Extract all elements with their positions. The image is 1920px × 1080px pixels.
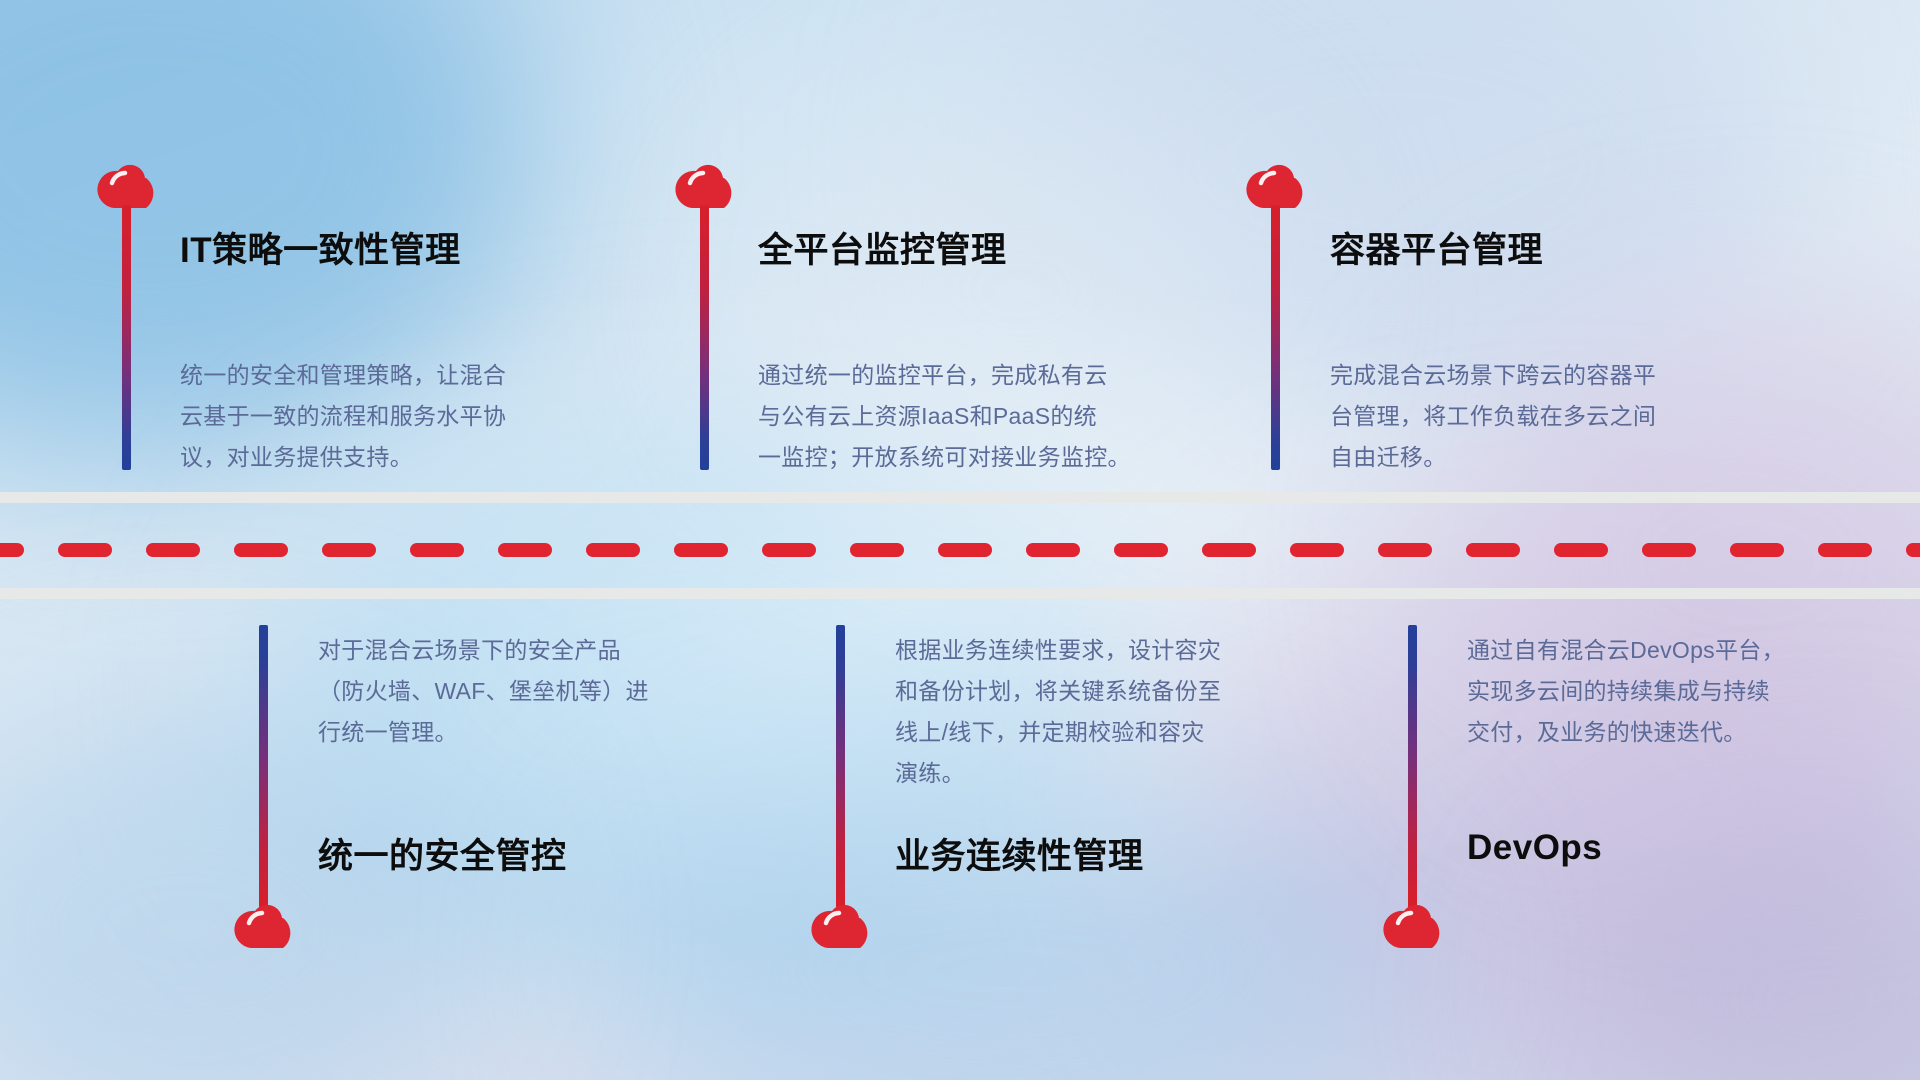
item-description: 对于混合云场景下的安全产品 （防火墙、WAF、堡垒机等）进 行统一管理。 xyxy=(318,630,748,753)
connector-stem xyxy=(700,205,709,470)
road-dash xyxy=(322,543,376,557)
connector-stem xyxy=(1271,205,1280,470)
road-dash xyxy=(586,543,640,557)
road-dash xyxy=(762,543,816,557)
cloud-icon xyxy=(94,158,166,210)
item-title: IT策略一致性管理 xyxy=(180,222,461,273)
road-dash xyxy=(1730,543,1784,557)
cloud-icon xyxy=(672,158,744,210)
item-description: 通过自有混合云DevOps平台， 实现多云间的持续集成与持续 交付，及业务的快速… xyxy=(1467,630,1907,753)
infographic-canvas: IT策略一致性管理 统一的安全和管理策略，让混合 云基于一致的流程和服务水平协 … xyxy=(0,0,1920,1080)
road-dash xyxy=(1554,543,1608,557)
road-dash xyxy=(1290,543,1344,557)
road-dash xyxy=(1114,543,1168,557)
road-dash xyxy=(850,543,904,557)
item-title: 统一的安全管控 xyxy=(318,828,567,879)
road-dash xyxy=(1202,543,1256,557)
road-dash xyxy=(146,543,200,557)
road-dash xyxy=(498,543,552,557)
road-dash xyxy=(1378,543,1432,557)
road-edge-top xyxy=(0,492,1920,503)
road-dash xyxy=(938,543,992,557)
road-dash xyxy=(1818,543,1872,557)
item-title: 容器平台管理 xyxy=(1330,222,1543,273)
item-description: 统一的安全和管理策略，让混合 云基于一致的流程和服务水平协 议，对业务提供支持。 xyxy=(180,355,610,478)
road-dash xyxy=(0,543,24,557)
item-title: 业务连续性管理 xyxy=(895,828,1144,879)
road-dash xyxy=(1642,543,1696,557)
item-description: 完成混合云场景下跨云的容器平 台管理，将工作负载在多云之间 自由迁移。 xyxy=(1330,355,1770,478)
road-dashed-centerline xyxy=(0,543,1920,557)
connector-stem xyxy=(1408,625,1417,908)
item-title: 全平台监控管理 xyxy=(758,222,1007,273)
item-description: 通过统一的监控平台，完成私有云 与公有云上资源IaaS和PaaS的统 一监控；开… xyxy=(758,355,1198,478)
connector-stem xyxy=(259,625,268,908)
road-edge-bottom xyxy=(0,588,1920,599)
connector-stem xyxy=(836,625,845,908)
road-dash xyxy=(1026,543,1080,557)
road-dash xyxy=(410,543,464,557)
cloud-icon xyxy=(1243,158,1315,210)
cloud-icon xyxy=(1380,898,1452,950)
road-dash xyxy=(58,543,112,557)
connector-stem xyxy=(122,205,131,470)
road-dash xyxy=(674,543,728,557)
item-description: 根据业务连续性要求，设计容灾 和备份计划，将关键系统备份至 线上/线下，并定期校… xyxy=(895,630,1335,794)
item-title: DevOps xyxy=(1467,828,1602,868)
road-dash xyxy=(1906,543,1920,557)
cloud-icon xyxy=(231,898,303,950)
cloud-icon xyxy=(808,898,880,950)
road-dash xyxy=(234,543,288,557)
road-dash xyxy=(1466,543,1520,557)
